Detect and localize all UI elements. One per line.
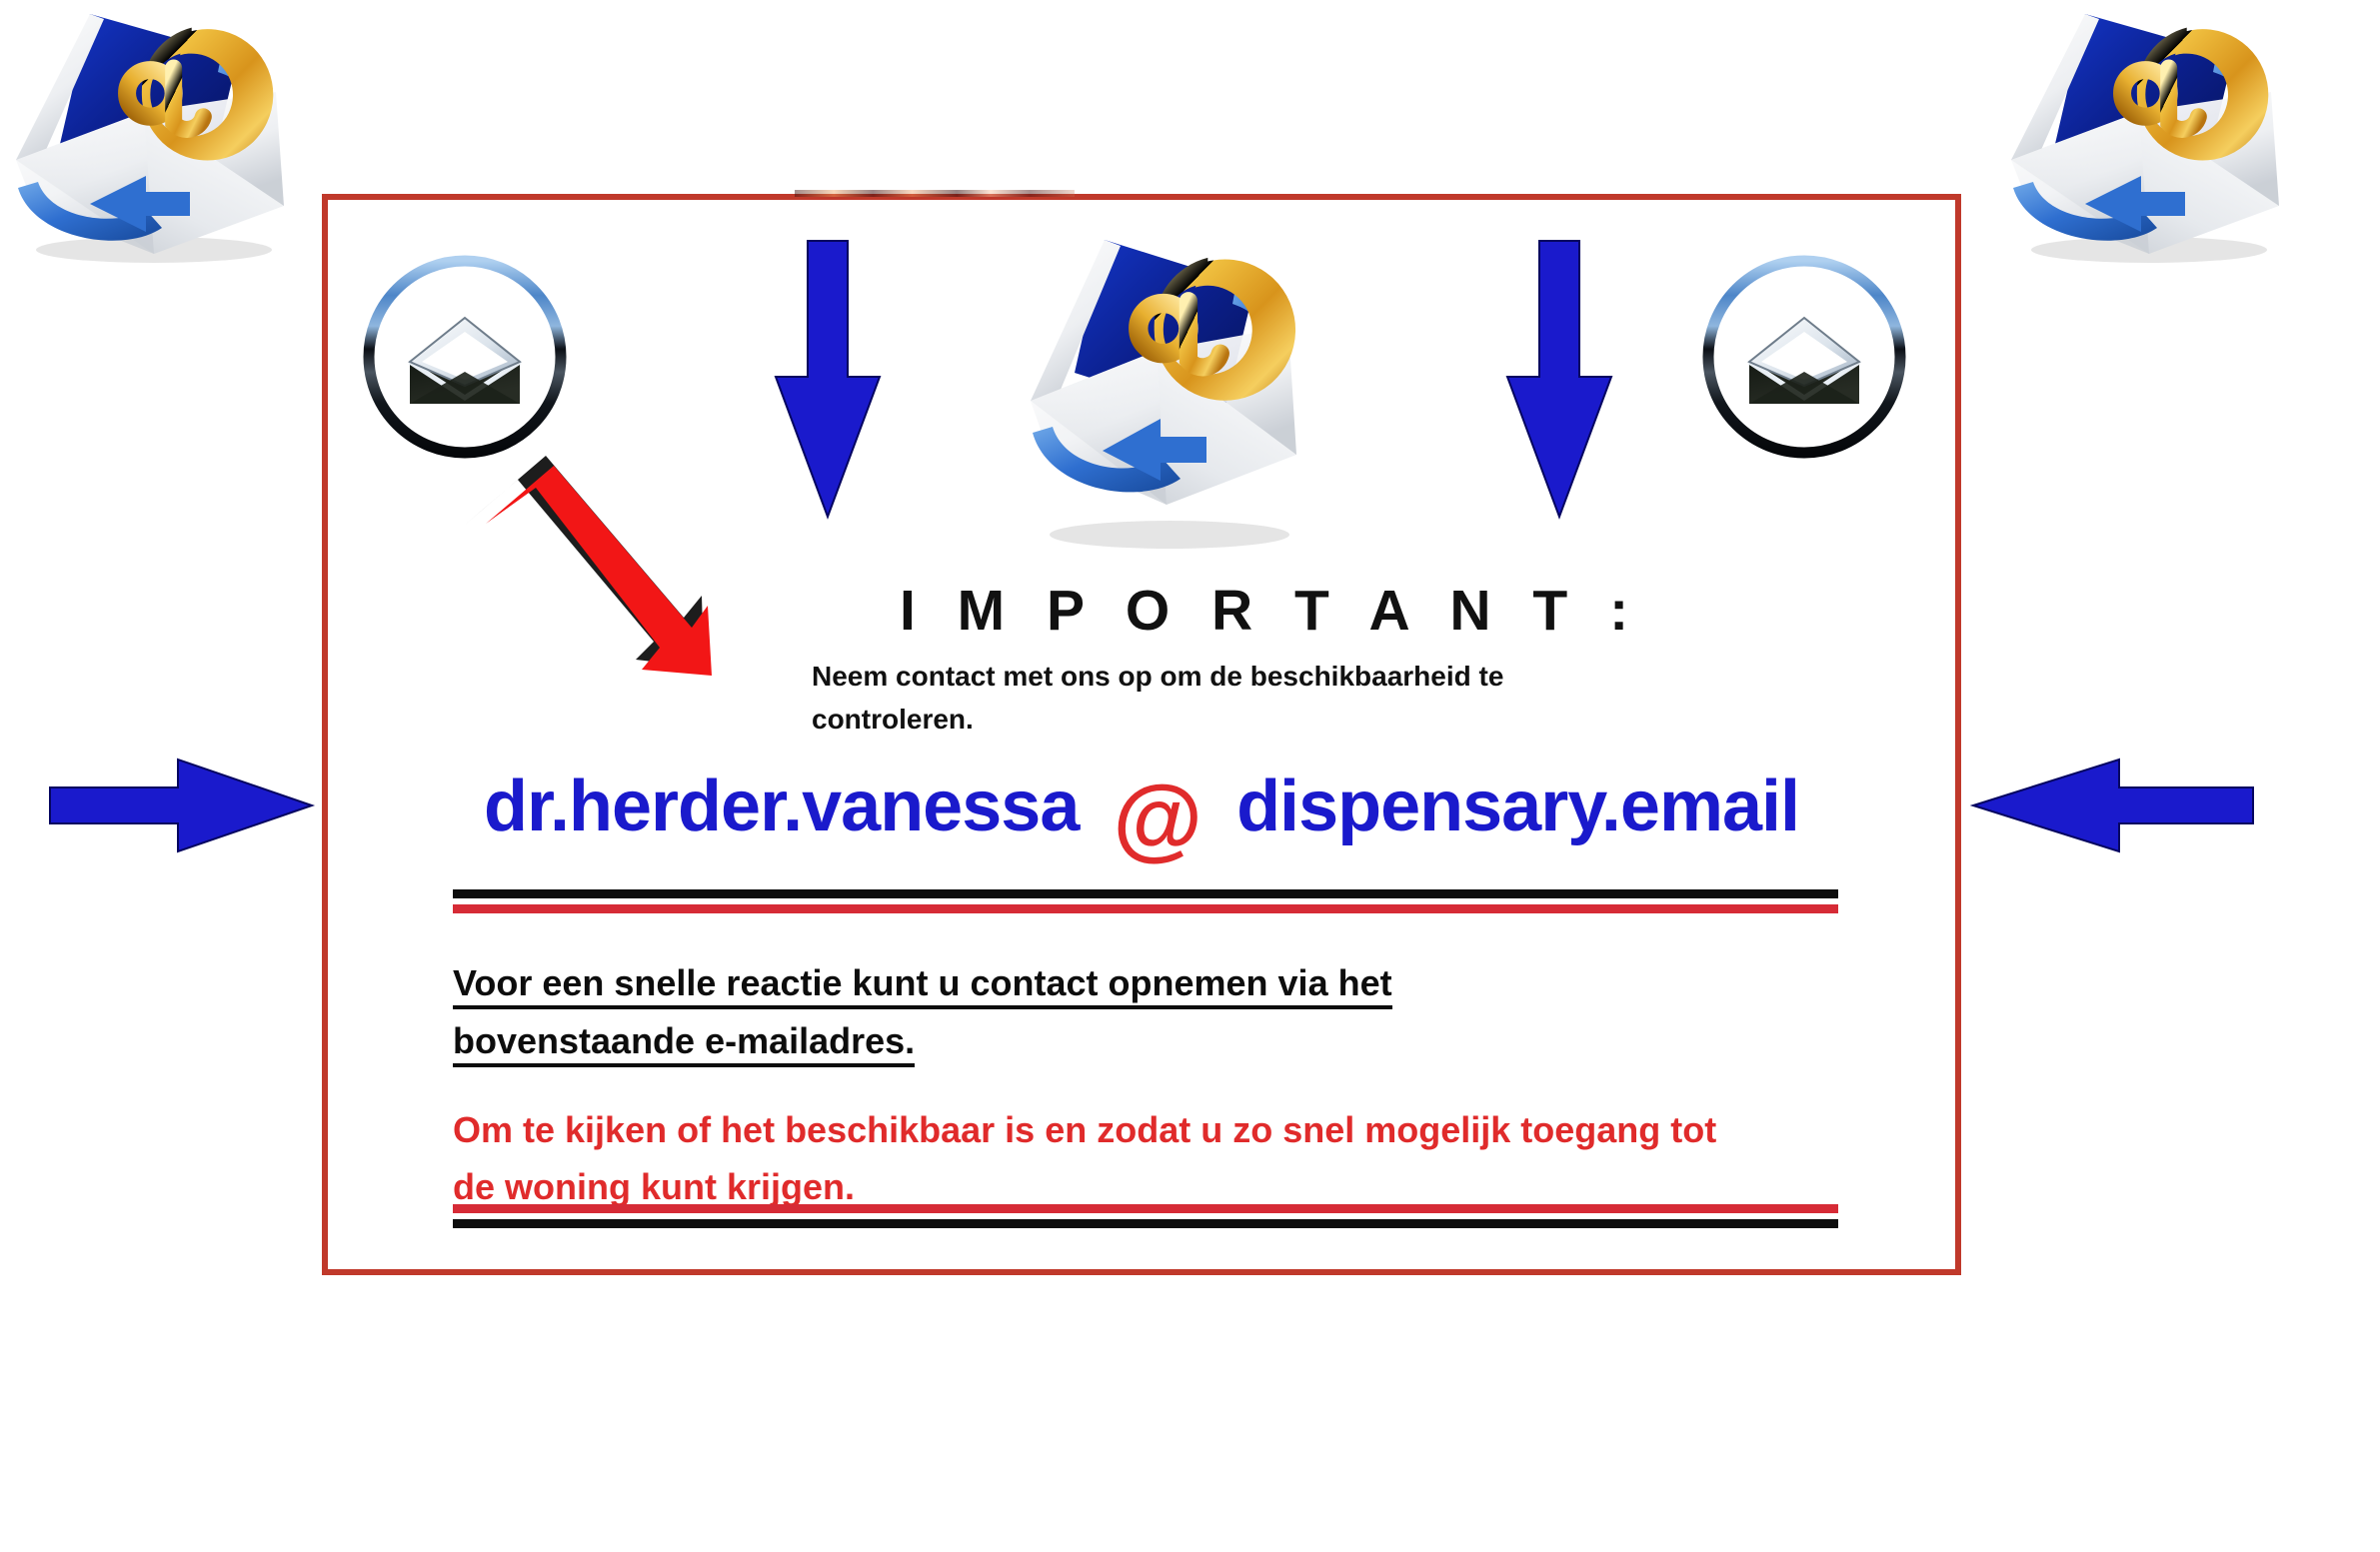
blue-right-arrow-icon (46, 756, 316, 855)
divider-top (453, 889, 1838, 913)
quick-reply-note: Voor een snelle reactie kunt u contact o… (453, 954, 1602, 1071)
at-symbol-icon: @ (1113, 773, 1202, 864)
divider-black-rule (453, 889, 1838, 898)
availability-access-note: Om te kijken of het beschikbaar is en zo… (453, 1102, 1742, 1216)
email-at-envelope-icon (1989, 0, 2289, 267)
quick-reply-text: Voor een snelle reactie kunt u contact o… (453, 962, 1392, 1067)
blue-down-arrow-icon (768, 235, 888, 525)
divider-bottom (453, 1204, 1838, 1228)
divider-red-rule (453, 904, 1838, 913)
blue-left-arrow-icon (1967, 756, 2257, 855)
email-local-part: dr.herder.vanessa (484, 771, 1079, 842)
email-domain-part: dispensary.email (1236, 771, 1799, 842)
email-at-envelope-icon (1005, 205, 1304, 555)
chrome-circle-envelope-icon (1699, 252, 1909, 462)
divider-black-rule (453, 1219, 1838, 1228)
contact-availability-note: Neem contact met ons op om de beschikbaa… (812, 655, 1611, 742)
poster-canvas: I M P O R T A N T : Neem contact met ons… (0, 0, 2380, 1552)
email-at-envelope-icon (0, 0, 294, 267)
email-address-row[interactable]: dr.herder.vanessa @ dispensary.email (322, 752, 1961, 861)
red-diagonal-arrow-icon (440, 430, 740, 690)
divider-red-rule (453, 1204, 1838, 1213)
important-heading: I M P O R T A N T : (900, 578, 1641, 644)
blue-down-arrow-icon (1499, 235, 1619, 525)
border-artifact (795, 190, 1075, 197)
